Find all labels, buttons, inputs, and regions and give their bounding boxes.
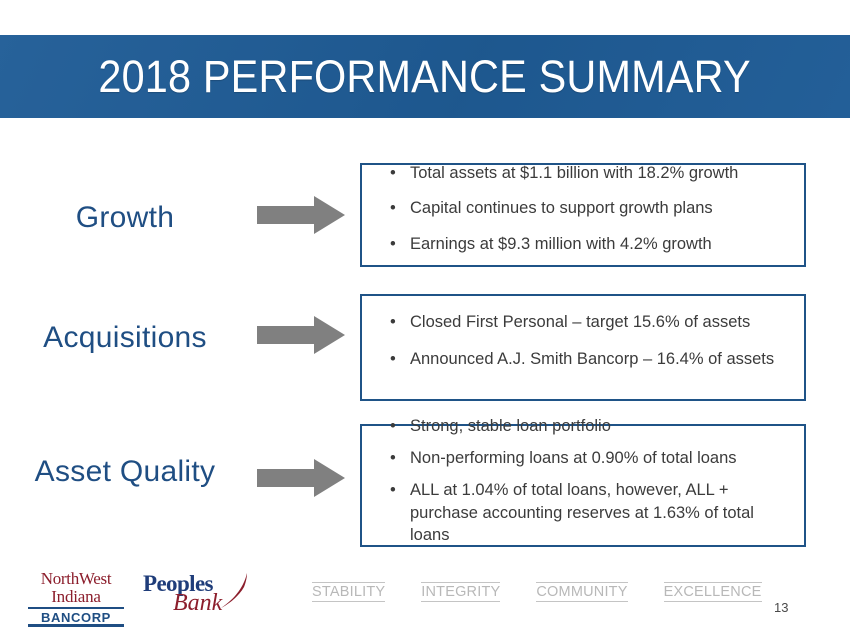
logo-northwest-indiana-bancorp: NorthWest Indiana BANCORP xyxy=(28,570,124,627)
content-box-asset-quality: • Strong, stable loan portfolio • Non-pe… xyxy=(360,424,806,547)
list-item: • Strong, stable loan portfolio xyxy=(388,415,790,437)
list-item-text: Total assets at $1.1 billion with 18.2% … xyxy=(410,164,738,182)
page-title: 2018 PERFORMANCE SUMMARY xyxy=(99,54,751,99)
list-item-text: Capital continues to support growth plan… xyxy=(410,199,713,217)
logo-nwi-line2: Indiana xyxy=(28,588,124,609)
slide-footer: NorthWest Indiana BANCORP Peoples Bank S… xyxy=(0,560,850,637)
bullet-glyph: • xyxy=(390,162,396,184)
bullet-glyph: • xyxy=(390,348,396,370)
list-item: • Capital continues to support growth pl… xyxy=(388,197,790,219)
section-label-asset-quality: Asset Quality xyxy=(0,455,250,489)
content-box-acquisitions: • Closed First Personal – target 15.6% o… xyxy=(360,294,806,401)
bullet-glyph: • xyxy=(390,233,396,255)
bullet-glyph: • xyxy=(390,447,396,469)
bullet-list-acquisitions: • Closed First Personal – target 15.6% o… xyxy=(362,311,804,384)
logo-bank-word: Bank xyxy=(173,591,222,615)
value-stability: STABILITY xyxy=(312,582,385,602)
bullet-glyph: • xyxy=(390,197,396,219)
list-item-text: Earnings at $9.3 million with 4.2% growt… xyxy=(410,235,712,253)
list-item: • Closed First Personal – target 15.6% o… xyxy=(388,311,790,333)
right-arrow-icon xyxy=(257,458,345,498)
logo-nwi-line1: NorthWest xyxy=(28,570,124,587)
slide-title-banner: 2018 PERFORMANCE SUMMARY xyxy=(0,35,850,118)
section-label-growth: Growth xyxy=(0,201,250,235)
list-item-text: Announced A.J. Smith Bancorp – 16.4% of … xyxy=(410,350,774,368)
list-item: • Non-performing loans at 0.90% of total… xyxy=(388,447,790,469)
bullet-glyph: • xyxy=(390,479,396,501)
list-item: • Total assets at $1.1 billion with 18.2… xyxy=(388,162,790,184)
list-item: • Announced A.J. Smith Bancorp – 16.4% o… xyxy=(388,348,790,370)
right-arrow-icon xyxy=(257,315,345,355)
section-label-acquisitions: Acquisitions xyxy=(0,321,250,355)
page-number: 13 xyxy=(774,600,788,615)
list-item-text: Strong, stable loan portfolio xyxy=(410,417,611,435)
list-item-text: ALL at 1.04% of total loans, however, AL… xyxy=(410,481,754,544)
bullet-list-asset-quality: • Strong, stable loan portfolio • Non-pe… xyxy=(362,415,804,556)
logo-nwi-bancorp: BANCORP xyxy=(28,611,124,627)
bullet-glyph: • xyxy=(390,415,396,437)
right-arrow-icon xyxy=(257,195,345,235)
bullet-list-growth: • Total assets at $1.1 billion with 18.2… xyxy=(362,162,804,268)
logo-peoples-bank: Peoples Bank xyxy=(143,572,253,618)
content-box-growth: • Total assets at $1.1 billion with 18.2… xyxy=(360,163,806,267)
core-values-list: STABILITY INTEGRITY COMMUNITY EXCELLENCE xyxy=(312,582,762,602)
bullet-glyph: • xyxy=(390,311,396,333)
value-community: COMMUNITY xyxy=(536,582,627,602)
list-item-text: Closed First Personal – target 15.6% of … xyxy=(410,313,750,331)
list-item: • Earnings at $9.3 million with 4.2% gro… xyxy=(388,233,790,255)
value-excellence: EXCELLENCE xyxy=(664,582,762,602)
list-item-text: Non-performing loans at 0.90% of total l… xyxy=(410,449,737,467)
list-item: • ALL at 1.04% of total loans, however, … xyxy=(388,479,790,546)
value-integrity: INTEGRITY xyxy=(421,582,500,602)
